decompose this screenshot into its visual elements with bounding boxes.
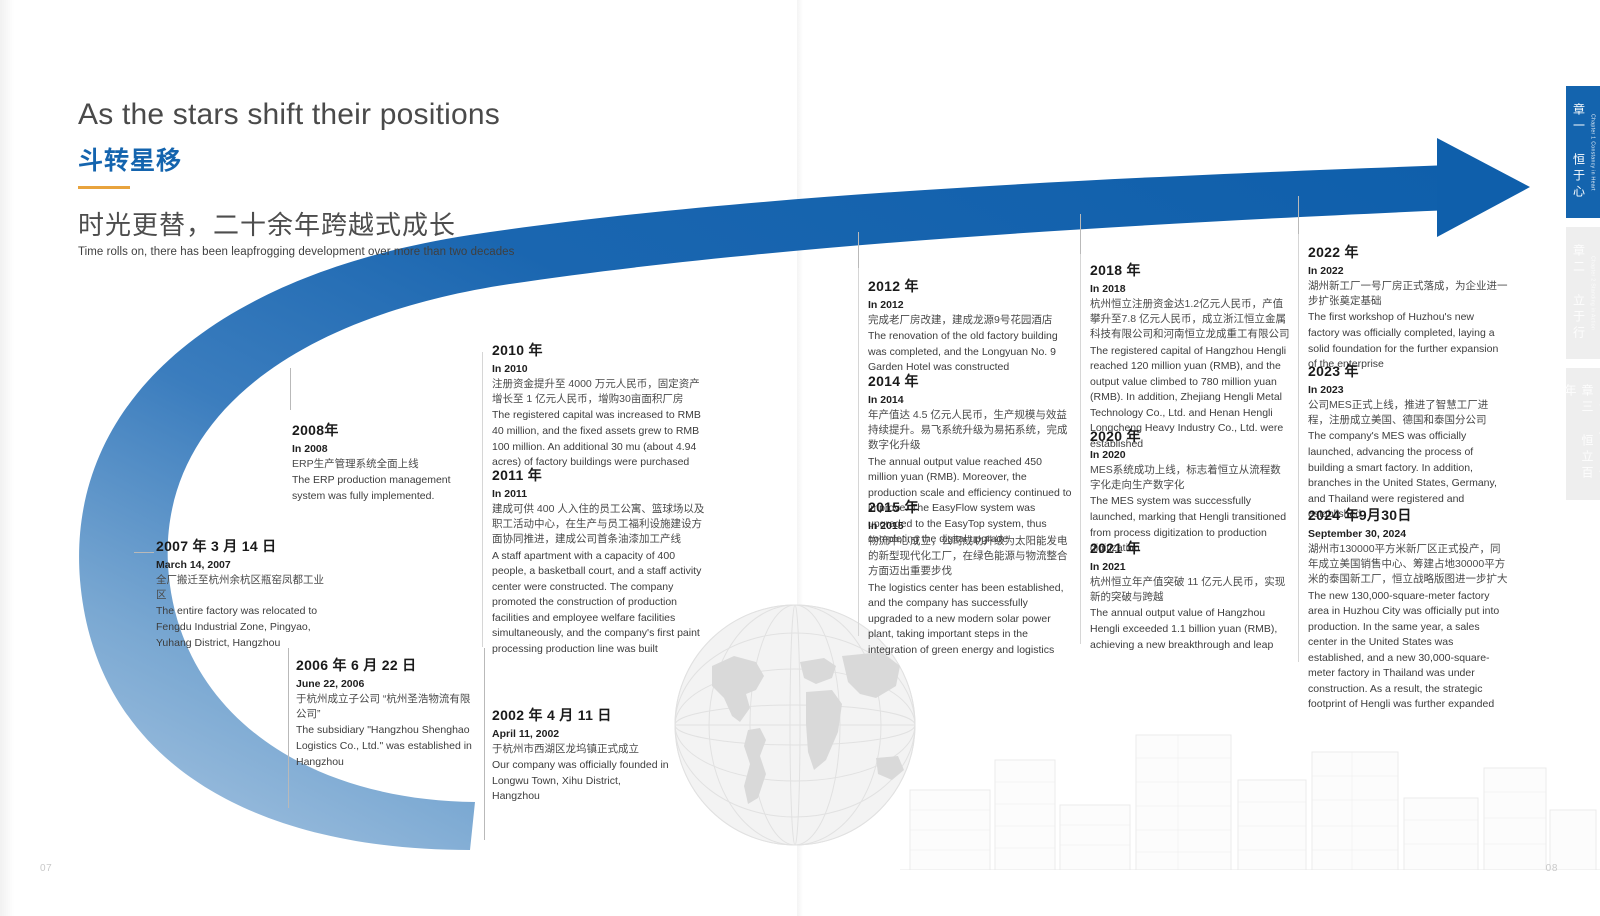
timeline-entry-2008: 2008年 In 2008 ERP生产管理系统全面上线 The ERP prod…	[292, 420, 470, 504]
entry-year-en: In 2018	[1090, 283, 1290, 295]
entry-body-cn: 年产值达 4.5 亿元人民币，生产规模与效益持续提升。易飞系统升级为易拓系统，完…	[868, 408, 1074, 454]
timeline-entry-2020: 2020 年 In 2020 MES系统成功上线，标志着恒立从流程数字化走向生产…	[1090, 426, 1290, 557]
page-number-left: 07	[40, 863, 52, 874]
entry-year-en: In 2008	[292, 443, 470, 455]
timeline-entry-2012: 2012 年 In 2012 完成老厂房改建，建成龙源9号花园酒店 The re…	[868, 276, 1074, 376]
page-subtitle-cn: 时光更替，二十余年跨越式成长	[78, 205, 456, 242]
title-underline-rule	[78, 186, 130, 189]
page-subtitle-en: Time rolls on, there has been leapfroggi…	[78, 246, 514, 258]
connector-tick-2008	[290, 368, 291, 410]
entry-body-cn: 建成可供 400 人入住的员工公寓、篮球场以及职工活动中心，在生产与员工福利设施…	[492, 502, 710, 548]
chapter-tab-2[interactable]: 章二 立于行 Chapter 2 Standing in Action	[1566, 227, 1600, 359]
entry-year-cn: 2023 年	[1308, 361, 1508, 381]
entry-body-en: The subsidiary "Hangzhou Shenghao Logist…	[296, 723, 474, 770]
entry-body-en: The ERP production management system was…	[292, 473, 470, 504]
page-title-cn: 斗转星移	[78, 141, 718, 177]
chapter-tab-strip: 章一 恒于心 Chapter 1 Constancy in Heart 章二 立…	[1566, 86, 1600, 509]
entry-body-cn: ERP生产管理系统全面上线	[292, 457, 470, 472]
entry-year-cn: 2007 年 3 月 14 日	[156, 536, 334, 556]
entry-body-cn: 杭州恒立年产值突破 11 亿元人民币，实现新的突破与跨越	[1090, 575, 1290, 605]
entry-body-cn: 全厂搬迁至杭州余杭区瓶窑凤都工业区	[156, 573, 334, 603]
entry-body-cn: 于杭州市西湖区龙坞镇正式成立	[492, 742, 670, 757]
entry-body-cn: 公司MES正式上线，推进了智慧工厂进程，注册成立美国、德国和泰国分公司	[1308, 398, 1508, 428]
connector-tick-2012	[858, 232, 859, 268]
entry-year-en: September 30, 2024	[1308, 528, 1508, 540]
chapter-tab-2-label-cn: 章二 立于行	[1571, 244, 1588, 342]
entry-year-cn: 2021 年	[1090, 538, 1290, 558]
entry-year-cn: 2008年	[292, 420, 470, 440]
connector-tick-2007	[134, 552, 154, 553]
entry-body-cn: 完成老厂房改建，建成龙源9号花园酒店	[868, 313, 1074, 328]
entry-body-cn: MES系统成功上线，标志着恒立从流程数字化走向生产数字化	[1090, 463, 1290, 493]
entry-body-en: The renovation of the old factory buildi…	[868, 329, 1074, 376]
chapter-tab-1-label-en: Chapter 1 Constancy in Heart	[1590, 114, 1596, 191]
entry-body-en: The logistics center has been establishe…	[868, 581, 1074, 659]
connector-tick-2006	[288, 648, 289, 808]
timeline-entry-2021: 2021 年 In 2021 杭州恒立年产值突破 11 亿元人民币，实现新的突破…	[1090, 538, 1290, 653]
entry-body-en: The entire factory was relocated to Feng…	[156, 604, 334, 651]
chapter-tab-2-label-en: Chapter 2 Standing in Action	[1590, 256, 1596, 330]
entry-body-cn: 湖州新工厂一号厂房正式落成，为企业进一步扩张奠定基础	[1308, 279, 1508, 309]
entry-year-cn: 2006 年 6 月 22 日	[296, 655, 474, 675]
entry-body-cn: 于杭州成立子公司 “杭州圣浩物流有限公司”	[296, 692, 474, 722]
timeline-entry-2015: 2015 年 In 2015 物流中心成立，公司成功升级为太阳能发电的新型现代化…	[868, 497, 1074, 658]
entry-year-en: April 11, 2002	[492, 728, 670, 740]
timeline-entry-2006: 2006 年 6 月 22 日 June 22, 2006 于杭州成立子公司 “…	[296, 655, 474, 770]
chapter-tab-1-label-cn: 章一 恒于心	[1571, 103, 1588, 201]
entry-body-en: A staff apartment with a capacity of 400…	[492, 549, 710, 658]
page-number-right: 08	[1546, 863, 1558, 874]
connector-tick-2002	[484, 648, 485, 840]
entry-year-cn: 2012 年	[868, 276, 1074, 296]
page-title-en: As the stars shift their positions	[78, 98, 718, 133]
timeline-entry-2022: 2022 年 In 2022 湖州新工厂一号厂房正式落成，为企业进一步扩张奠定基…	[1308, 242, 1508, 373]
chapter-tab-3[interactable]: 章三 恒立百年 Chapter 3 Hengli for a Century	[1566, 368, 1600, 500]
entry-body-en: The new 130,000-square-meter factory are…	[1308, 589, 1508, 713]
entry-year-cn: 2024 年9月30日	[1308, 505, 1508, 525]
entry-year-cn: 2022 年	[1308, 242, 1508, 262]
entry-body-en: Our company was officially founded in Lo…	[492, 758, 670, 805]
entry-year-en: In 2012	[868, 299, 1074, 311]
entry-year-en: March 14, 2007	[156, 559, 334, 571]
entry-year-en: In 2011	[492, 488, 710, 500]
timeline-entry-2002: 2002 年 4 月 11 日 April 11, 2002 于杭州市西湖区龙坞…	[492, 705, 670, 805]
entry-year-en: In 2022	[1308, 265, 1508, 277]
entry-year-cn: 2010 年	[492, 340, 710, 360]
entry-year-cn: 2011 年	[492, 465, 710, 485]
entry-year-cn: 2014 年	[868, 371, 1074, 391]
page-title-block: As the stars shift their positions 斗转星移	[78, 98, 718, 189]
entry-year-en: June 22, 2006	[296, 678, 474, 690]
entry-year-cn: 2020 年	[1090, 426, 1290, 446]
chapter-tab-1[interactable]: 章一 恒于心 Chapter 1 Constancy in Heart	[1566, 86, 1600, 218]
entry-body-cn: 注册资金提升至 4000 万元人民币，固定资产增长至 1 亿元人民币，增购30亩…	[492, 377, 710, 407]
timeline-entry-2023: 2023 年 In 2023 公司MES正式上线，推进了智慧工厂进程，注册成立美…	[1308, 361, 1508, 523]
entry-body-cn: 杭州恒立注册资金达1.2亿元人民币，产值攀升至7.8 亿元人民币，成立浙江恒立金…	[1090, 297, 1290, 343]
column-separator-2	[858, 266, 859, 636]
entry-body-en: The annual output value of Hangzhou Heng…	[1090, 606, 1290, 653]
entry-year-en: In 2015	[868, 520, 1074, 532]
chapter-tab-3-label-cn: 章三 恒立百年	[1562, 384, 1596, 484]
connector-tick-2022	[1298, 196, 1299, 234]
entry-year-cn: 2018 年	[1090, 260, 1290, 280]
entry-body-en: The registered capital was increased to …	[492, 408, 710, 470]
entry-year-en: In 2010	[492, 363, 710, 375]
entry-body-cn: 湖州市130000平方米新厂区正式投产，同年成立美国销售中心、筹建占地30000…	[1308, 542, 1508, 588]
entry-year-cn: 2002 年 4 月 11 日	[492, 705, 670, 725]
timeline-entry-2018: 2018 年 In 2018 杭州恒立注册资金达1.2亿元人民币，产值攀升至7.…	[1090, 260, 1290, 452]
timeline-entry-2011: 2011 年 In 2011 建成可供 400 人入住的员工公寓、篮球场以及职工…	[492, 465, 710, 657]
entry-year-en: In 2020	[1090, 449, 1290, 461]
entry-year-cn: 2015 年	[868, 497, 1074, 517]
entry-body-cn: 物流中心成立，公司成功升级为太阳能发电的新型现代化工厂，在绿色能源与物流整合方面…	[868, 534, 1074, 580]
entry-year-en: In 2021	[1090, 561, 1290, 573]
timeline-entry-2010: 2010 年 In 2010 注册资金提升至 4000 万元人民币，固定资产增长…	[492, 340, 710, 471]
column-separator-1	[482, 352, 483, 647]
column-separator-4	[1298, 232, 1299, 662]
connector-tick-2018	[1080, 214, 1081, 254]
timeline-entry-2024: 2024 年9月30日 September 30, 2024 湖州市130000…	[1308, 505, 1508, 713]
timeline-entry-2007: 2007 年 3 月 14 日 March 14, 2007 全厂搬迁至杭州余杭…	[156, 536, 334, 651]
column-separator-3	[1080, 252, 1081, 644]
timeline-page: As the stars shift their positions 斗转星移 …	[0, 0, 1600, 916]
entry-year-en: In 2014	[868, 394, 1074, 406]
entry-year-en: In 2023	[1308, 384, 1508, 396]
